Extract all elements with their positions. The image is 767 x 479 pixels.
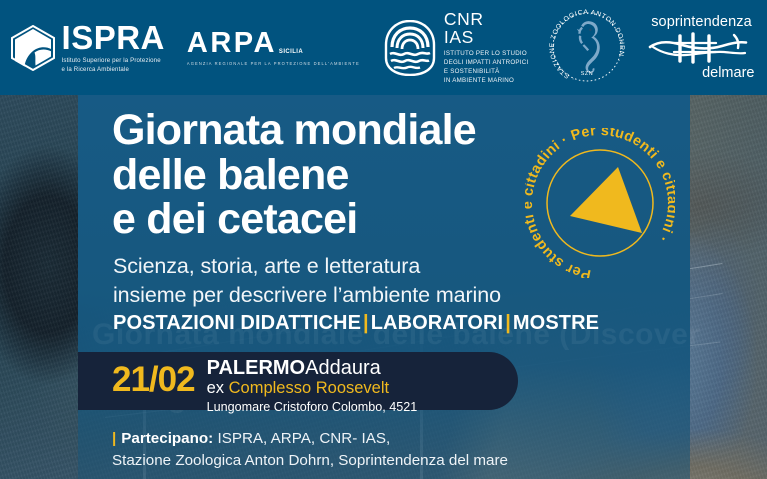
logo-soprintendenza-del-mare: soprintendenza delmare: [642, 12, 760, 84]
arpa-wordmark: ARPA: [187, 29, 277, 58]
arpa-wordmark-row: ARPA SICILIA: [187, 29, 303, 58]
event-city-row: PALERMOAddaura: [207, 357, 418, 379]
activity-separator-1: |: [361, 312, 371, 334]
szn-acronym: SZN: [581, 71, 594, 77]
badge-triangle: [570, 167, 642, 233]
partners-line-1: |Partecipano: ISPRA, ARPA, CNR- IAS,: [112, 428, 508, 450]
event-venue-row: ex Complesso Roosevelt: [207, 379, 418, 398]
soprintendenza-wordmark-top: soprintendenza: [651, 15, 752, 30]
event-info: 21/02 PALERMOAddaura ex Complesso Roosev…: [112, 355, 417, 416]
arpa-region-label: SICILIA: [279, 49, 303, 55]
title-line-2: delle balene: [112, 153, 476, 198]
activities-list: POSTAZIONI DIDATTICHE|LABORATORI|MOSTRE: [113, 312, 599, 335]
cnr-ias-wave-icon: [384, 20, 436, 76]
subtitle: Scienza, storia, arte e letteratura insi…: [113, 252, 501, 309]
ispra-text: ISPRA Istituto Superiore per la Protezio…: [62, 21, 165, 75]
logo-ispra: ISPRA Istituto Superiore per la Protezio…: [11, 21, 165, 75]
subtitle-line-1: Scienza, storia, arte e letteratura: [113, 252, 501, 281]
arpa-subtitle: AGENZIA REGIONALE PER LA PROTEZIONE DELL…: [187, 61, 360, 66]
ispra-subtitle: Istituto Superiore per la Protezione e l…: [62, 57, 165, 75]
ispra-wordmark: ISPRA: [62, 21, 165, 54]
partners-block: |Partecipano: ISPRA, ARPA, CNR- IAS, Sta…: [112, 428, 508, 472]
logo-stazione-zoologica: · STAZIONE ZOOLOGICA ANTON DOHRN · SZN: [548, 8, 626, 88]
activity-laboratori: LABORATORI: [371, 312, 503, 334]
activity-separator-2: |: [503, 312, 513, 334]
cnr-ias-subtitle-line1: ISTITUTO PER LO STUDIO: [444, 50, 529, 59]
cnr-ias-subtitle-line3: E SOSTENIBILITÀ: [444, 68, 529, 77]
subtitle-line-2: insieme per descrivere l’ambiente marino: [113, 281, 501, 310]
cnr-wordmark: CNR: [444, 10, 529, 29]
seahorse-glyph: [577, 21, 600, 73]
event-date: 21/02: [112, 362, 195, 397]
event-venue-prefix: ex: [207, 379, 224, 397]
ispra-subtitle-line1: Istituto Superiore per la Protezione: [62, 57, 165, 66]
cnr-ias-subtitle-line2: DEGLI IMPATTI ANTROPICI: [444, 59, 529, 68]
partners-bar: |: [112, 430, 116, 447]
ispra-subtitle-line2: e la Ricerca Ambientale: [62, 66, 165, 75]
partners-label: Partecipano:: [121, 430, 213, 447]
cnr-ias-subtitle: ISTITUTO PER LO STUDIO DEGLI IMPATTI ANT…: [444, 50, 529, 85]
poster-root: Giornata mondiale delle balene (Discover…: [0, 0, 767, 479]
audience-badge: Per studenti e cittadini · Per studenti …: [525, 128, 675, 278]
ias-wordmark: IAS: [444, 28, 529, 47]
event-district: Addaura: [305, 357, 381, 379]
activity-postazioni-didattiche: POSTAZIONI DIDATTICHE: [113, 312, 361, 334]
soprintendenza-anchor-icon: [646, 31, 756, 65]
logo-arpa: ARPA SICILIA AGENZIA REGIONALE PER LA PR…: [187, 29, 360, 66]
title-line-1: Giornata mondiale: [112, 108, 476, 153]
cnr-ias-text: CNR IAS ISTITUTO PER LO STUDIO DEGLI IMP…: [444, 10, 529, 86]
logo-cnr-ias: CNR IAS ISTITUTO PER LO STUDIO DEGLI IMP…: [384, 10, 529, 86]
szn-seal-icon: · STAZIONE ZOOLOGICA ANTON DOHRN · SZN: [548, 8, 626, 88]
event-city: PALERMO: [207, 357, 306, 379]
partner-logo-bar: ISPRA Istituto Superiore per la Protezio…: [0, 0, 767, 95]
cnr-ias-subtitle-line4: IN AMBIENTE MARINO: [444, 77, 529, 86]
event-address: Lungomare Cristoforo Colombo, 4521: [207, 400, 418, 416]
partners-line-2: Stazione Zoologica Anton Dohrn, Soprinte…: [112, 450, 508, 472]
event-venue: PALERMOAddaura ex Complesso Roosevelt Lu…: [207, 357, 418, 416]
partners-line-1-rest: ISPRA, ARPA, CNR- IAS,: [217, 430, 390, 447]
activity-mostre: MOSTRE: [513, 312, 599, 334]
soprintendenza-wordmark-bottom: delmare: [702, 66, 754, 81]
title-line-3: e dei cetacei: [112, 197, 476, 242]
page-title: Giornata mondiale delle balene e dei cet…: [112, 108, 476, 242]
event-venue-name: Complesso Roosevelt: [229, 379, 390, 397]
ispra-mark-icon: [11, 25, 55, 71]
audience-badge-icon: Per studenti e cittadini · Per studenti …: [525, 128, 675, 278]
